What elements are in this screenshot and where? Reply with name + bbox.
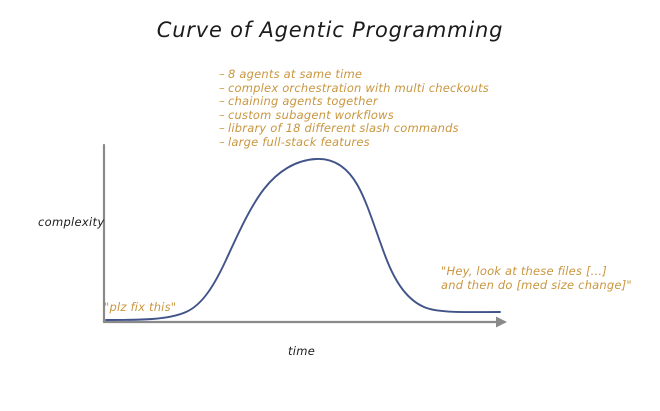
list-item: –complex orchestration with multi checko…	[219, 82, 519, 96]
list-bullet: –	[219, 109, 228, 123]
list-bullet: –	[219, 122, 228, 136]
list-bullet: –	[219, 68, 228, 82]
list-item-label: large full-stack features	[228, 135, 370, 149]
list-item: –custom subagent workflows	[219, 109, 519, 123]
list-item-label: library of 18 different slash commands	[228, 121, 459, 135]
x-axis-arrow-icon	[496, 317, 507, 328]
x-axis-label: time	[288, 344, 315, 358]
callout-mature-usage: "Hey, look at these files [...] and then…	[441, 264, 632, 292]
callout-line-1: "Hey, look at these files [...]	[441, 264, 632, 278]
complexity-curve	[106, 159, 500, 320]
list-bullet: –	[219, 95, 228, 109]
list-item: –chaining agents together	[219, 95, 519, 109]
list-item-label: chaining agents together	[228, 94, 378, 108]
list-item-label: custom subagent workflows	[228, 108, 394, 122]
callout-line-2: and then do [med size change]"	[441, 278, 632, 292]
feature-annotation-list: –8 agents at same time –complex orchestr…	[219, 68, 519, 150]
chart-canvas: Curve of Agentic Programming complexity …	[0, 0, 660, 411]
list-bullet: –	[219, 82, 228, 96]
list-bullet: –	[219, 136, 228, 150]
list-item-label: complex orchestration with multi checkou…	[228, 81, 489, 95]
list-item-label: 8 agents at same time	[228, 67, 362, 81]
callout-low-complexity: "plz fix this"	[104, 300, 176, 314]
list-item: –large full-stack features	[219, 136, 519, 150]
list-item: –library of 18 different slash commands	[219, 122, 519, 136]
chart-plot-area	[0, 0, 660, 411]
list-item: –8 agents at same time	[219, 68, 519, 82]
y-axis-label: complexity	[38, 215, 104, 229]
